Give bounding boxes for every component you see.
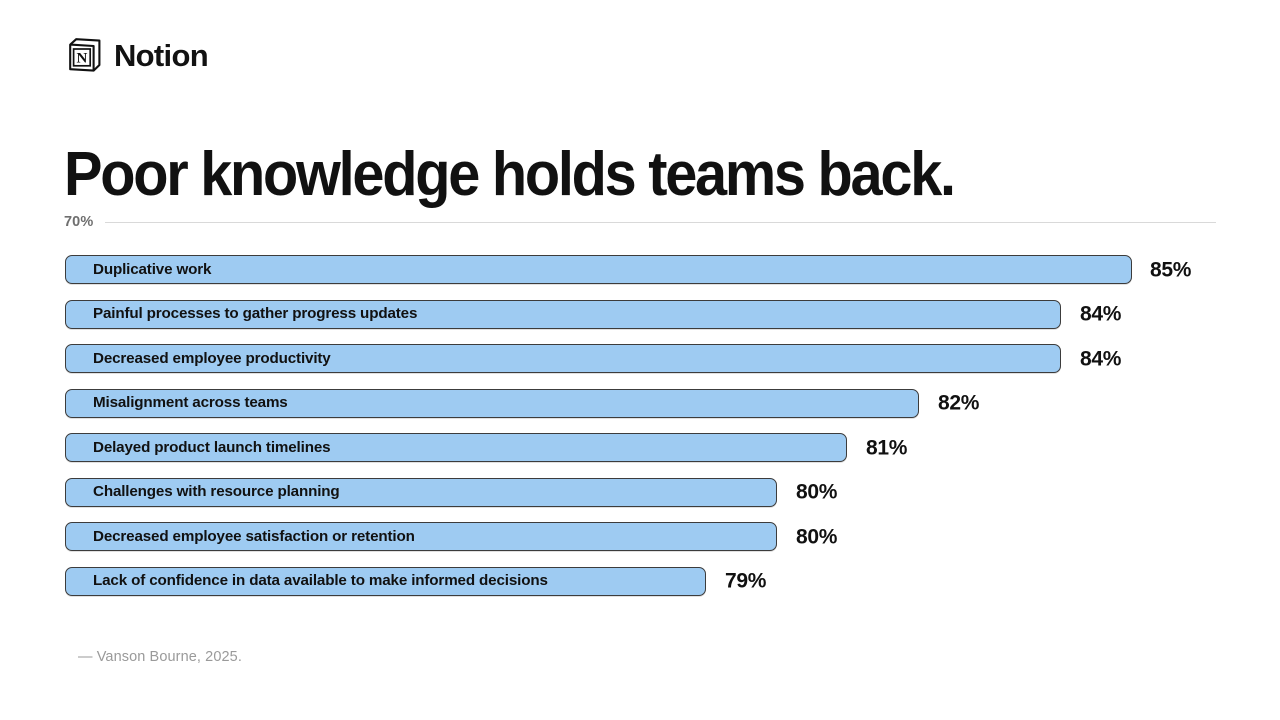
bar-duplicative-work[interactable]: Duplicative work xyxy=(65,255,1132,284)
bar-track: Delayed product launch timelines 81% xyxy=(65,433,847,462)
bar-row: Duplicative work 85% xyxy=(65,255,1245,300)
bar-delayed-product-launch[interactable]: Delayed product launch timelines xyxy=(65,433,847,462)
bar-row: Decreased employee productivity 84% xyxy=(65,344,1245,389)
bar-value-label: 80% xyxy=(796,482,837,503)
bar-value-label: 81% xyxy=(866,437,907,458)
bar-value-label: 79% xyxy=(725,571,766,592)
bar-label: Misalignment across teams xyxy=(66,395,288,410)
axis-min-label: 70% xyxy=(64,215,93,230)
chart-axis: 70% xyxy=(64,212,1216,232)
source-citation: — Vanson Bourne, 2025. xyxy=(78,650,242,665)
bar-employee-satisfaction[interactable]: Decreased employee satisfaction or reten… xyxy=(65,522,777,551)
bar-track: Misalignment across teams 82% xyxy=(65,389,919,418)
bar-track: Lack of confidence in data available to … xyxy=(65,567,706,596)
bar-value-label: 84% xyxy=(1080,348,1121,369)
bar-painful-processes[interactable]: Painful processes to gather progress upd… xyxy=(65,300,1061,329)
bar-misalignment-across-teams[interactable]: Misalignment across teams xyxy=(65,389,919,418)
bar-track: Decreased employee satisfaction or reten… xyxy=(65,522,777,551)
bar-label: Delayed product launch timelines xyxy=(66,440,330,455)
bar-track: Painful processes to gather progress upd… xyxy=(65,300,1061,329)
bar-value-label: 85% xyxy=(1150,259,1191,280)
bar-label: Challenges with resource planning xyxy=(66,484,340,499)
bar-row: Delayed product launch timelines 81% xyxy=(65,433,1245,478)
bar-label: Decreased employee satisfaction or reten… xyxy=(66,529,415,544)
bar-label: Duplicative work xyxy=(66,262,211,277)
slide-canvas: N Notion Poor knowledge holds teams back… xyxy=(0,0,1280,720)
bar-row: Decreased employee satisfaction or reten… xyxy=(65,522,1245,567)
bar-lack-of-confidence-in-data[interactable]: Lack of confidence in data available to … xyxy=(65,567,706,596)
bar-row: Misalignment across teams 82% xyxy=(65,389,1245,434)
bar-row: Painful processes to gather progress upd… xyxy=(65,300,1245,345)
bar-list: Duplicative work 85% Painful processes t… xyxy=(65,255,1245,611)
bar-row: Challenges with resource planning 80% xyxy=(65,478,1245,523)
bar-label: Lack of confidence in data available to … xyxy=(66,573,548,588)
axis-gridline xyxy=(105,222,1216,223)
bar-value-label: 84% xyxy=(1080,304,1121,325)
bar-row: Lack of confidence in data available to … xyxy=(65,567,1245,612)
bar-value-label: 80% xyxy=(796,526,837,547)
bar-label: Decreased employee productivity xyxy=(66,351,331,366)
bar-resource-planning[interactable]: Challenges with resource planning xyxy=(65,478,777,507)
bar-track: Decreased employee productivity 84% xyxy=(65,344,1061,373)
bar-decreased-productivity[interactable]: Decreased employee productivity xyxy=(65,344,1061,373)
bar-value-label: 82% xyxy=(938,393,979,414)
bar-label: Painful processes to gather progress upd… xyxy=(66,306,417,321)
bar-chart: 70% Duplicative work 85% Painful process… xyxy=(0,0,1280,720)
bar-track: Duplicative work 85% xyxy=(65,255,1132,284)
bar-track: Challenges with resource planning 80% xyxy=(65,478,777,507)
